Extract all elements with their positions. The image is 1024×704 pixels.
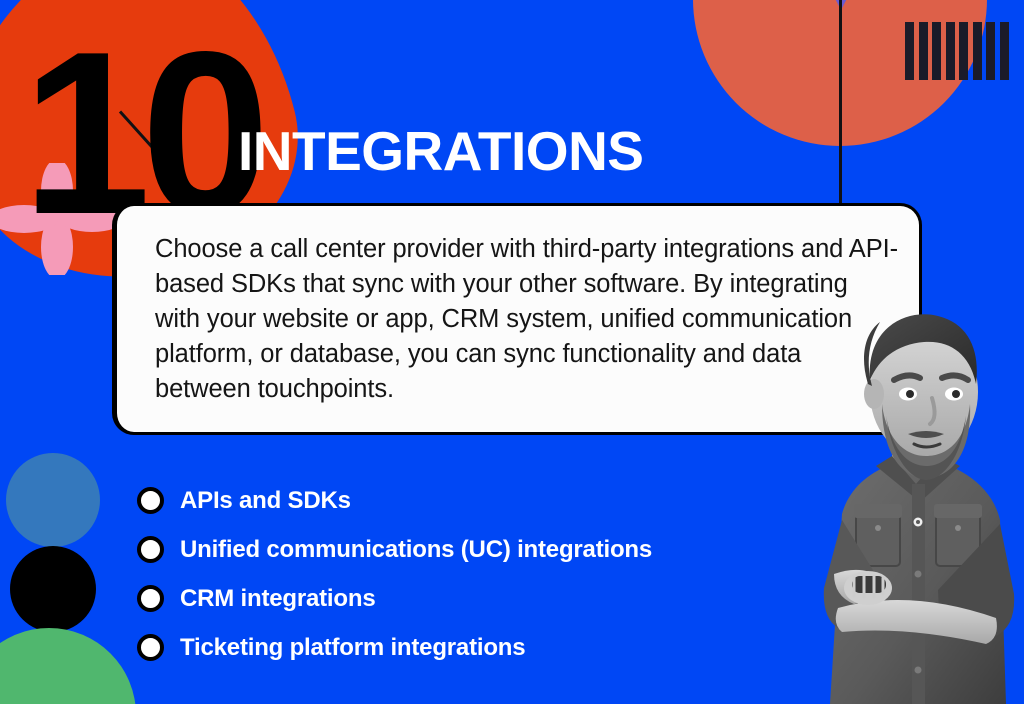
list-item[interactable]: CRM integrations: [137, 574, 877, 623]
barcode-bar: [1000, 22, 1009, 80]
bullet-label: CRM integrations: [180, 585, 375, 613]
presenter-photo: [820, 288, 1024, 704]
bullet-label: APIs and SDKs: [180, 487, 351, 515]
barcode-bar: [932, 22, 941, 80]
barcode-bar: [919, 22, 928, 80]
barcode-stripes-icon: [905, 22, 1009, 80]
barcode-bar: [959, 22, 968, 80]
description-card: Choose a call center provider with third…: [112, 203, 922, 435]
bullet-circle-icon: [137, 634, 164, 661]
bullet-label: Ticketing platform integrations: [180, 634, 525, 662]
description-text: Choose a call center provider with third…: [155, 232, 899, 407]
bullet-circle-icon: [137, 585, 164, 612]
list-item[interactable]: Ticketing platform integrations: [137, 623, 877, 672]
steel-blue-circle-icon: [6, 453, 100, 547]
page-title: INTEGRATIONS: [238, 119, 643, 183]
green-circle-icon: [0, 628, 136, 704]
list-item[interactable]: APIs and SDKs: [137, 476, 877, 525]
barcode-bar: [973, 22, 982, 80]
barcode-bar: [986, 22, 995, 80]
bullet-label: Unified communications (UC) integrations: [180, 536, 652, 564]
black-circle-icon: [10, 546, 96, 632]
bullet-circle-icon: [137, 487, 164, 514]
barcode-bar: [946, 22, 955, 80]
list-item[interactable]: Unified communications (UC) integrations: [137, 525, 877, 574]
barcode-bar: [905, 22, 914, 80]
vertical-line-icon: [839, 0, 842, 206]
bullet-list: APIs and SDKs Unified communications (UC…: [137, 476, 877, 672]
slide-canvas: 10 INTEGRATIONS Choose a call center pro…: [0, 0, 1024, 704]
bullet-circle-icon: [137, 536, 164, 563]
